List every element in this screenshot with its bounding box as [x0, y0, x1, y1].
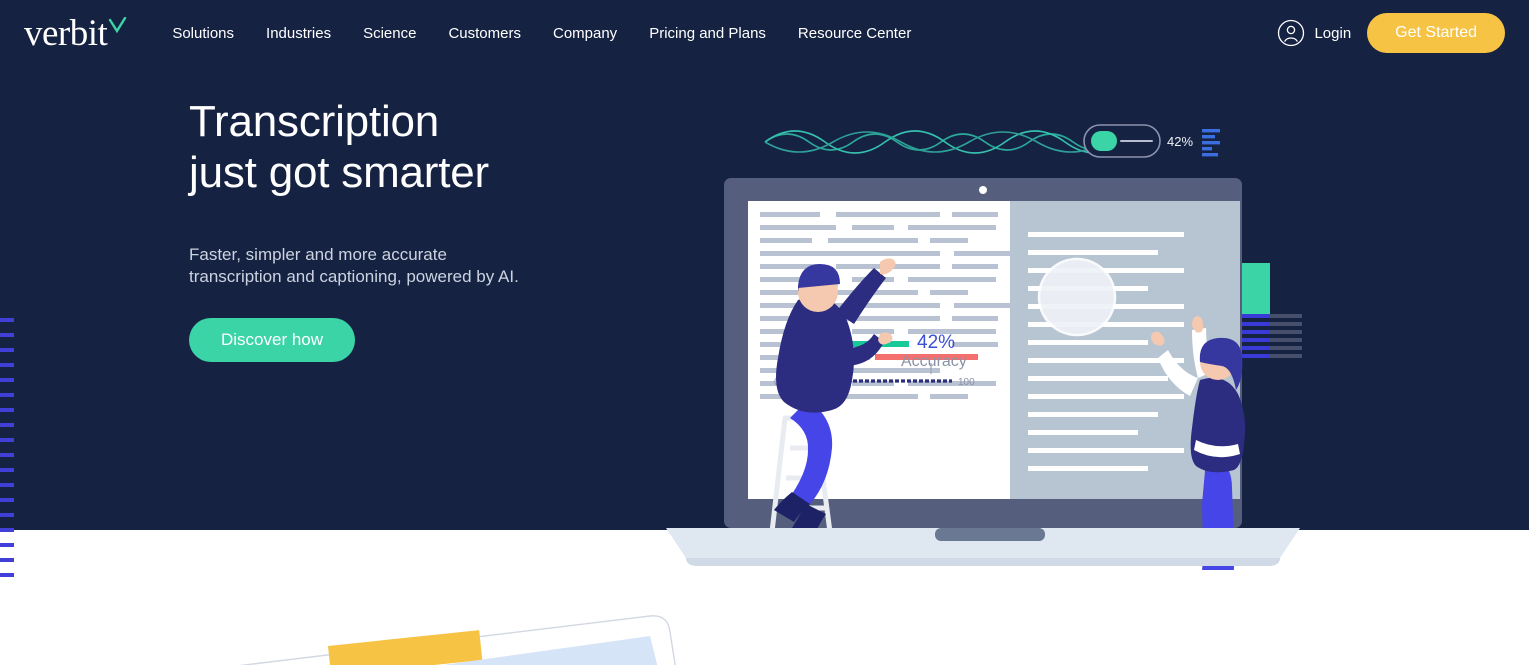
- nav-item-science[interactable]: Science: [347, 26, 432, 41]
- accuracy-value: 42%: [917, 332, 955, 353]
- edge-dash: [0, 453, 14, 457]
- toggle-switch-icon[interactable]: [1084, 125, 1160, 157]
- nav-item-solutions[interactable]: Solutions: [156, 26, 250, 41]
- edge-dash: [0, 558, 14, 562]
- edge-dash: [0, 513, 14, 517]
- gray-striped-block: [1270, 314, 1302, 358]
- edge-dash: [0, 363, 14, 367]
- main-navigation: SolutionsIndustriesScienceCustomersCompa…: [156, 26, 927, 41]
- edge-dash: [0, 573, 14, 577]
- site-header: verbit SolutionsIndustriesScienceCustome…: [0, 0, 1529, 66]
- nav-item-pricing-and-plans[interactable]: Pricing and Plans: [633, 26, 782, 41]
- edge-dash: [0, 408, 14, 412]
- header-actions: Login Get Started: [1277, 0, 1505, 66]
- hero-content: Transcription just got smarter Faster, s…: [189, 96, 709, 362]
- text-bars-icon: [1202, 129, 1220, 156]
- hero-subtitle: Faster, simpler and more accurate transc…: [189, 244, 709, 288]
- blue-striped-block: [1238, 314, 1270, 358]
- get-started-button[interactable]: Get Started: [1367, 13, 1505, 53]
- audio-waveform-icon: [765, 131, 1125, 153]
- hero-illustration: 42%: [640, 100, 1340, 570]
- nav-item-industries[interactable]: Industries: [250, 26, 347, 41]
- edge-dash: [0, 348, 14, 352]
- edge-dash: [0, 393, 14, 397]
- user-circle-icon: [1277, 19, 1305, 47]
- laptop-base: [666, 528, 1300, 566]
- left-edge-dash-decoration: [0, 318, 24, 586]
- edge-dash: [0, 378, 14, 382]
- login-label: Login: [1314, 25, 1351, 42]
- nav-item-customers[interactable]: Customers: [432, 26, 537, 41]
- verbit-check-mark-icon: [108, 17, 128, 37]
- toggle-percent-label: 42%: [1167, 134, 1193, 149]
- edge-dash: [0, 423, 14, 427]
- logo[interactable]: verbit: [24, 15, 128, 52]
- login-button[interactable]: Login: [1277, 19, 1351, 47]
- edge-dash: [0, 498, 14, 502]
- edge-dash: [0, 468, 14, 472]
- edge-dash: [0, 528, 14, 532]
- edge-dash: [0, 543, 14, 547]
- yellow-rectangle-icon: [328, 630, 482, 665]
- webcam-dot-icon: [979, 186, 987, 194]
- page-title: Transcription just got smarter: [189, 96, 709, 198]
- accuracy-max-label: 100: [958, 377, 975, 388]
- tilted-device-card-icon: [210, 590, 690, 665]
- edge-dash: [0, 483, 14, 487]
- magnifier-lens-icon: [1039, 259, 1115, 335]
- decor-blocks: [1238, 263, 1302, 358]
- accuracy-caption: Accuracy: [901, 353, 967, 370]
- edge-dash: [0, 438, 14, 442]
- hero-title-line-1: Transcription: [189, 97, 439, 146]
- edge-dash: [0, 318, 14, 322]
- hero-subtitle-line-2: transcription and captioning, powered by…: [189, 267, 519, 286]
- discover-how-button[interactable]: Discover how: [189, 318, 355, 362]
- edge-dash: [0, 333, 14, 337]
- hero-subtitle-line-1: Faster, simpler and more accurate: [189, 245, 447, 264]
- page-root: verbit SolutionsIndustriesScienceCustome…: [0, 0, 1529, 665]
- hero-title-line-2: just got smarter: [189, 148, 489, 197]
- nav-item-resource-center[interactable]: Resource Center: [782, 26, 927, 41]
- nav-item-company[interactable]: Company: [537, 26, 633, 41]
- logo-text: verbit: [24, 15, 107, 52]
